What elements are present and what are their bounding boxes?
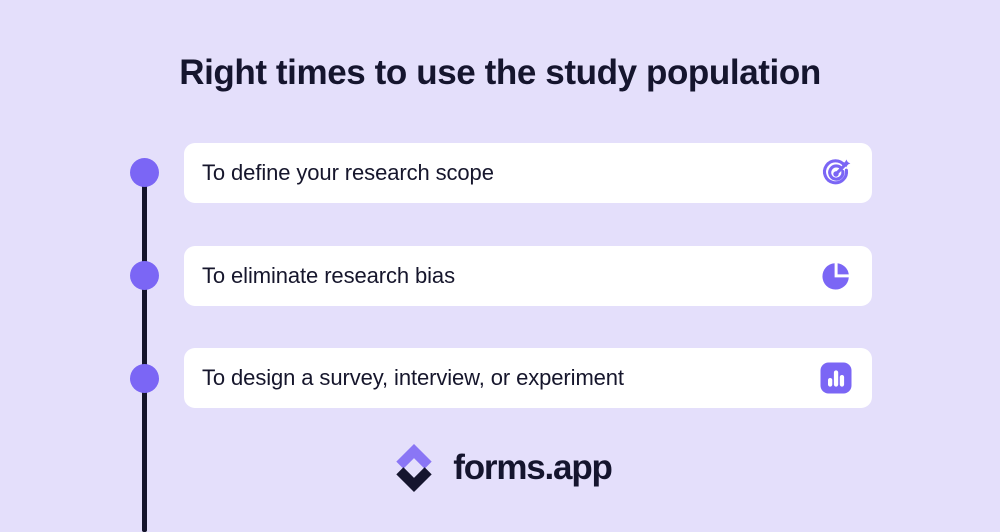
timeline-dot-1 bbox=[130, 158, 159, 187]
infographic-canvas: Right times to use the study population … bbox=[0, 0, 1000, 532]
pie-chart-icon bbox=[816, 256, 856, 296]
list-item[interactable]: To define your research scope bbox=[184, 143, 872, 203]
list-item-label: To define your research scope bbox=[202, 158, 808, 188]
list-item[interactable]: To design a survey, interview, or experi… bbox=[184, 348, 872, 408]
list-item-label: To design a survey, interview, or experi… bbox=[202, 363, 808, 393]
forms-app-logo-mark bbox=[388, 442, 440, 494]
timeline-dot-2 bbox=[130, 261, 159, 290]
timeline-dot-3 bbox=[130, 364, 159, 393]
list-item[interactable]: To eliminate research bias bbox=[184, 246, 872, 306]
target-sparkle-icon bbox=[816, 153, 856, 193]
page-title: Right times to use the study population bbox=[0, 49, 1000, 97]
forms-app-logo[interactable]: forms.app bbox=[0, 442, 1000, 494]
bar-chart-icon bbox=[816, 358, 856, 398]
list-item-label: To eliminate research bias bbox=[202, 261, 808, 291]
forms-app-logo-text: forms.app bbox=[453, 448, 611, 488]
